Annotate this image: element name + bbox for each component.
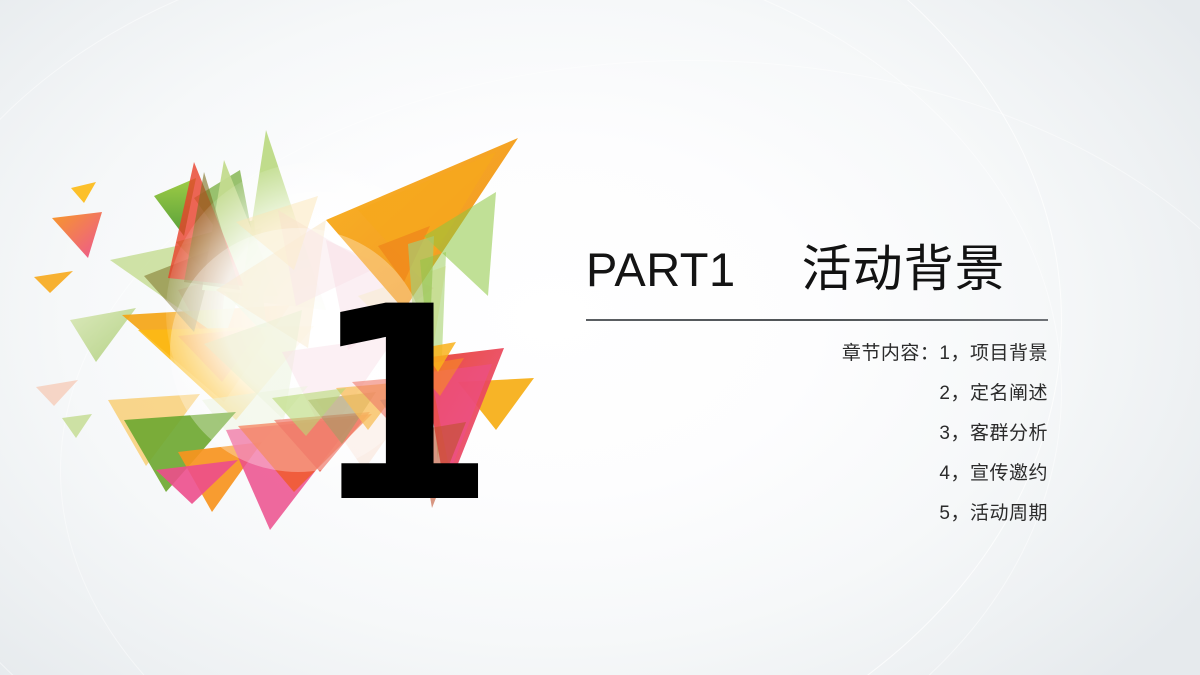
toc-item-5: 5，活动周期 — [586, 494, 1048, 534]
toc-item-1: 章节内容：1，项目背景 — [586, 334, 1048, 374]
toc-item-3: 3，客群分析 — [586, 414, 1048, 454]
title-divider — [586, 319, 1048, 321]
toc-item-2: 2，定名阐述 — [586, 374, 1048, 414]
toc-item-text: 1，项目背景 — [939, 343, 1048, 364]
section-heading: 活动背景 — [802, 244, 1006, 294]
toc-label: 章节内容： — [842, 343, 940, 364]
part-label: PART1 — [586, 246, 736, 293]
section-content: PART1 活动背景 章节内容：1，项目背景 2，定名阐述 3，客群分析 4，宣… — [586, 244, 1048, 534]
slide: 1 PART1 活动背景 章节内容：1，项目背景 2，定名阐述 3，客群分析 4… — [0, 0, 1200, 675]
section-number: 1 — [310, 286, 430, 526]
toc-item-text: 4，宣传邀约 — [939, 463, 1048, 484]
table-of-contents: 章节内容：1，项目背景 2，定名阐述 3，客群分析 4，宣传邀约 5，活动周期 — [586, 334, 1048, 534]
toc-item-text: 2，定名阐述 — [939, 383, 1048, 404]
toc-item-4: 4，宣传邀约 — [586, 454, 1048, 494]
triangle-burst-graphic: 1 — [26, 100, 586, 560]
toc-item-text: 3，客群分析 — [939, 423, 1048, 444]
section-title: PART1 活动背景 — [586, 244, 1048, 294]
toc-item-text: 5，活动周期 — [939, 503, 1048, 524]
